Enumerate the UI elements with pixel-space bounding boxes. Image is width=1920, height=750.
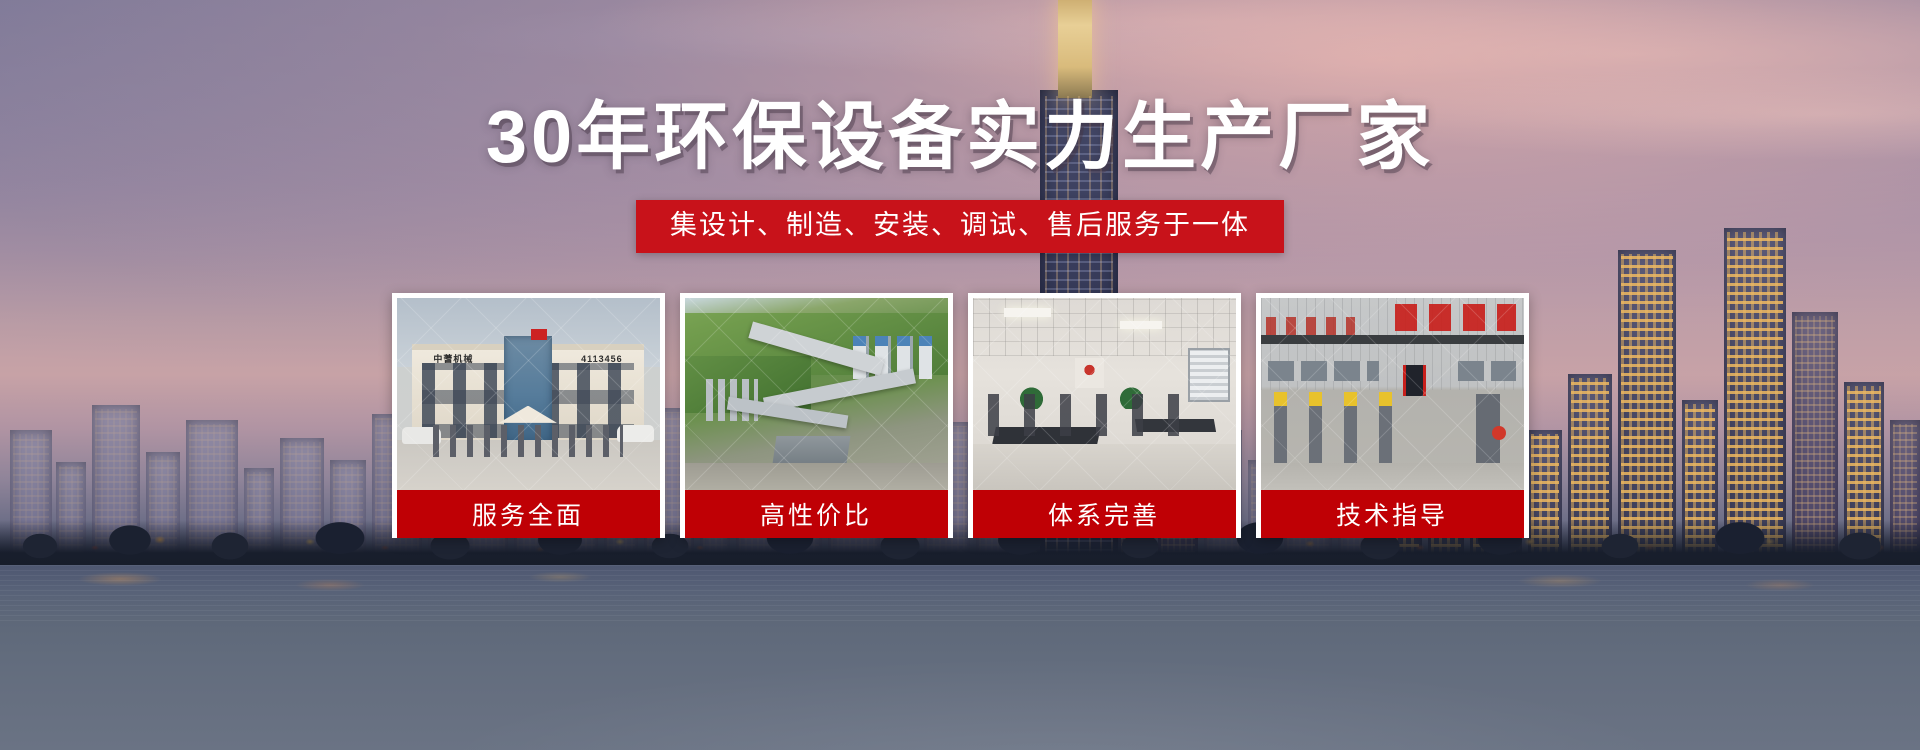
card-photo-office-interior xyxy=(973,298,1236,490)
card-caption: 技术指导 xyxy=(1261,490,1524,538)
card-photo-phone-text: 4113456 xyxy=(581,354,623,364)
card-caption: 体系完善 xyxy=(973,490,1236,538)
card-photo-sign-text: 中蓍机械 xyxy=(433,352,473,365)
card-photo-office-building: 中蓍机械 4113456 xyxy=(397,298,660,490)
feature-card-list: 中蓍机械 4113456 服务全面 xyxy=(392,293,1529,538)
card-caption: 服务全面 xyxy=(397,490,660,538)
hero-banner: 30年环保设备实力生产厂家 集设计、制造、安装、调试、售后服务于一体 中蓍机械 … xyxy=(0,0,1920,750)
feature-card[interactable]: 中蓍机械 4113456 服务全面 xyxy=(392,293,665,538)
feature-card[interactable]: 技术指导 xyxy=(1256,293,1529,538)
feature-card[interactable]: 体系完善 xyxy=(968,293,1241,538)
card-photo-factory-workers xyxy=(1261,298,1524,490)
subtitle-banner: 集设计、制造、安装、调试、售后服务于一体 xyxy=(636,200,1284,253)
card-photo-plant-aerial xyxy=(685,298,948,490)
card-caption: 高性价比 xyxy=(685,490,948,538)
feature-card[interactable]: 高性价比 xyxy=(680,293,953,538)
page-title: 30年环保设备实力生产厂家 xyxy=(486,100,1434,174)
banner-content: 30年环保设备实力生产厂家 集设计、制造、安装、调试、售后服务于一体 中蓍机械 … xyxy=(0,0,1920,750)
